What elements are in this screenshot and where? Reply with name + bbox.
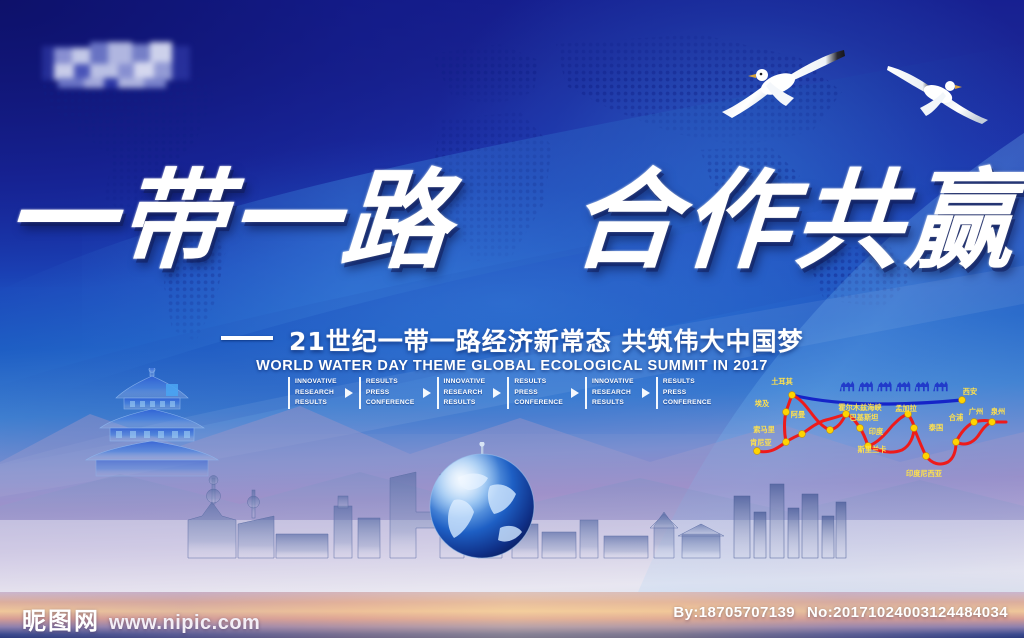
- chip-line-1: INNOVATIVE: [444, 377, 486, 388]
- chip-line-1: INNOVATIVE: [592, 377, 634, 388]
- chip-line-1: RESULTS: [663, 377, 712, 388]
- globe-graphic: [424, 442, 544, 560]
- brand-name-cn: 昵图网: [22, 601, 100, 636]
- map-label: 阿曼: [791, 410, 806, 419]
- chip-line-1: RESULTS: [366, 377, 415, 388]
- chip-line-3: RESULTS: [592, 398, 634, 409]
- chip-line-3: RESULTS: [295, 398, 337, 409]
- poster-canvas: 一带一路 合作共赢 21世纪一带一路经济新常态 共筑伟大中国梦 WORLD WA…: [0, 0, 1024, 638]
- chevron-right-icon: [345, 388, 353, 398]
- footer-no: No:20171024003124484034: [807, 604, 1008, 621]
- footer-watermark-bar: 昵图网 www.nipic.com By:18705707139 No:2017…: [0, 592, 1024, 638]
- subtitle-dash: [221, 336, 273, 340]
- map-label: 斯里兰卡: [858, 445, 887, 454]
- chip-line-1: RESULTS: [514, 377, 563, 388]
- map-label: 索马里: [753, 425, 775, 434]
- headline-part-2: 合作共赢: [567, 168, 1023, 276]
- silk-road-route-map: 土耳其 埃及 阿曼 索马里 肯尼亚 霍尔木兹海峡 巴基斯坦 印度 斯里兰卡 孟加…: [748, 372, 1020, 480]
- subtitle-text: 21世纪一带一路经济新常态 共筑伟大中国梦: [289, 322, 804, 358]
- chip-line-3: CONFERENCE: [514, 398, 563, 409]
- chip-line-3: RESULTS: [444, 398, 486, 409]
- footer-brand: 昵图网 www.nipic.com: [22, 601, 260, 636]
- map-label: 合浦: [948, 413, 964, 422]
- chip-line-2: RESEARCH: [444, 388, 486, 399]
- subtitle: 21世纪一带一路经济新常态 共筑伟大中国梦: [0, 322, 1024, 358]
- chip-line-2: PRESS: [366, 388, 415, 399]
- chip-line-2: PRESS: [514, 388, 563, 399]
- blurred-watermark-block: [42, 32, 190, 94]
- seagull-icon: [886, 62, 990, 126]
- chevron-right-icon: [423, 388, 431, 398]
- process-chip: RESULTS PRESS CONFERENCE: [656, 377, 712, 409]
- seagull-icon: [718, 44, 846, 122]
- map-label: 霍尔木兹海峡: [838, 403, 882, 412]
- process-chip: INNOVATIVE RESEARCH RESULTS: [288, 377, 337, 409]
- map-label: 孟加拉: [895, 404, 917, 413]
- footer-by: By:18705707139: [673, 604, 795, 621]
- chevron-right-icon: [493, 388, 501, 398]
- chip-line-2: PRESS: [663, 388, 712, 399]
- chevron-right-icon: [642, 388, 650, 398]
- chip-line-1: INNOVATIVE: [295, 377, 337, 388]
- page-title: 一带一路 合作共赢: [0, 168, 1024, 276]
- map-label: 广州: [969, 407, 983, 416]
- map-label: 印度尼西亚: [906, 469, 943, 478]
- map-label: 泉州: [990, 407, 1005, 416]
- map-label: 印度: [869, 427, 884, 436]
- process-chip: RESULTS PRESS CONFERENCE: [507, 377, 563, 409]
- chip-line-2: RESEARCH: [295, 388, 337, 399]
- map-label: 埃及: [755, 399, 770, 408]
- process-chip: RESULTS PRESS CONFERENCE: [359, 377, 415, 409]
- process-chip: INNOVATIVE RESEARCH RESULTS: [585, 377, 634, 409]
- map-label: 泰国: [928, 423, 943, 432]
- chip-line-3: CONFERENCE: [366, 398, 415, 409]
- chevron-right-icon: [571, 388, 579, 398]
- camel-caravan-icon: [840, 381, 948, 391]
- chip-line-2: RESEARCH: [592, 388, 634, 399]
- map-label: 巴基斯坦: [850, 413, 880, 422]
- map-label: 肯尼亚: [750, 438, 772, 447]
- process-chip-row: INNOVATIVE RESEARCH RESULTS RESULTS PRES…: [288, 377, 716, 409]
- map-label: 西安: [963, 387, 977, 396]
- headline-part-1: 一带一路: [2, 168, 458, 276]
- footer-meta: By:18705707139 No:20171024003124484034: [673, 604, 1008, 621]
- chip-line-3: CONFERENCE: [663, 398, 712, 409]
- map-label: 土耳其: [771, 377, 793, 386]
- brand-url: www.nipic.com: [109, 612, 260, 635]
- process-chip: INNOVATIVE RESEARCH RESULTS: [437, 377, 486, 409]
